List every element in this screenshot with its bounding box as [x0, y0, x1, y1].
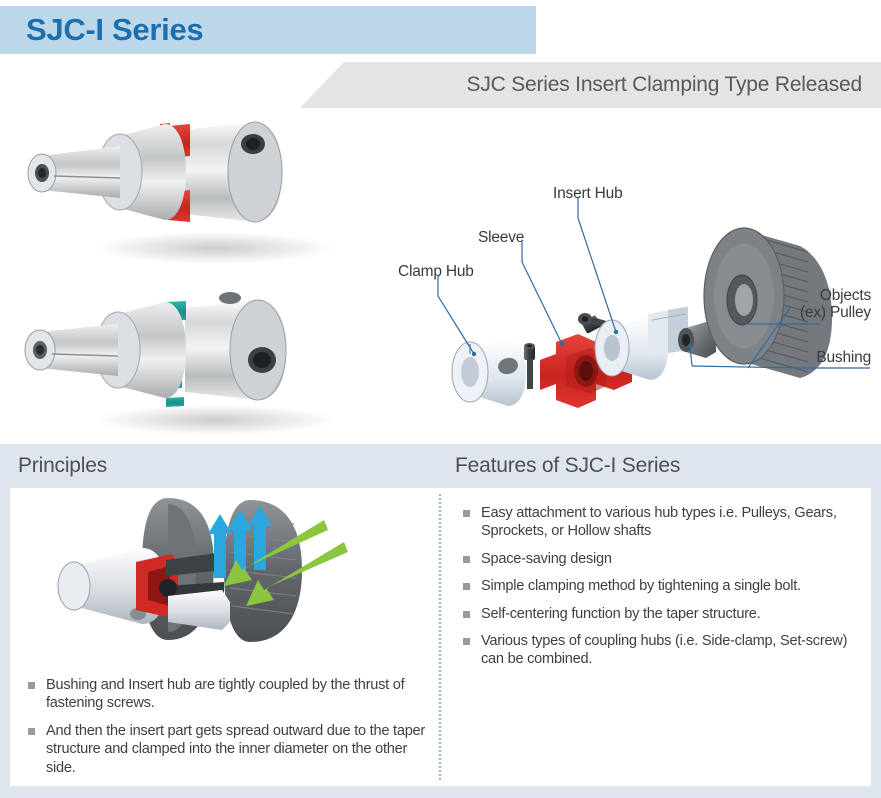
bottom-panel: Principles Features of SJC-I Series: [0, 444, 881, 798]
list-item: Self-centering function by the taper str…: [461, 605, 865, 623]
part-clamp-hub: [452, 338, 526, 406]
principle-cutaway-illustration: [18, 490, 438, 670]
features-column: Easy attachment to various hub types i.e…: [447, 488, 871, 786]
label-objects-line1: Objects: [745, 288, 871, 305]
principles-heading: Principles: [18, 454, 107, 478]
part-insert-hub: [595, 306, 688, 380]
principles-column: Bushing and Insert hub are tightly coupl…: [10, 488, 435, 786]
panel-body: Bushing and Insert hub are tightly coupl…: [10, 488, 871, 786]
leader-insert-hub: [578, 198, 616, 332]
label-clamp-hub: Clamp Hub: [398, 264, 474, 281]
list-item: And then the insert part gets spread out…: [26, 722, 426, 777]
label-sleeve: Sleeve: [478, 230, 524, 247]
page-title: SJC-I Series: [26, 12, 203, 48]
features-bullets: Easy attachment to various hub types i.e…: [461, 504, 865, 678]
label-bushing: Bushing: [745, 350, 871, 367]
list-item: Space-saving design: [461, 550, 865, 568]
label-insert-hub: Insert Hub: [553, 186, 623, 203]
panel-header-band: Principles Features of SJC-I Series: [0, 444, 881, 488]
coupling-photo-teal: [25, 292, 335, 435]
list-item: Bushing and Insert hub are tightly coupl…: [26, 676, 426, 713]
coupling-photo-red: [28, 122, 335, 264]
features-heading: Features of SJC-I Series: [455, 454, 680, 478]
subtitle-text: SJC Series Insert Clamping Type Released: [467, 73, 862, 97]
list-item: Various types of coupling hubs (i.e. Sid…: [461, 632, 865, 669]
principles-bullet-list: Bushing and Insert hub are tightly coupl…: [26, 676, 426, 777]
list-item: Easy attachment to various hub types i.e…: [461, 504, 865, 541]
product-illustration-area: Clamp Hub Sleeve Insert Hub Objects (ex)…: [0, 100, 881, 440]
principles-bullets: Bushing and Insert hub are tightly coupl…: [26, 676, 426, 786]
page-title-bar: SJC-I Series: [0, 6, 536, 54]
features-bullet-list: Easy attachment to various hub types i.e…: [461, 504, 865, 669]
column-divider: [439, 494, 441, 780]
leader-sleeve: [522, 242, 562, 344]
principle-cutaway-svg: [18, 490, 438, 670]
label-objects-line2: (ex) Pulley: [745, 305, 871, 322]
list-item: Simple clamping method by tightening a s…: [461, 577, 865, 595]
